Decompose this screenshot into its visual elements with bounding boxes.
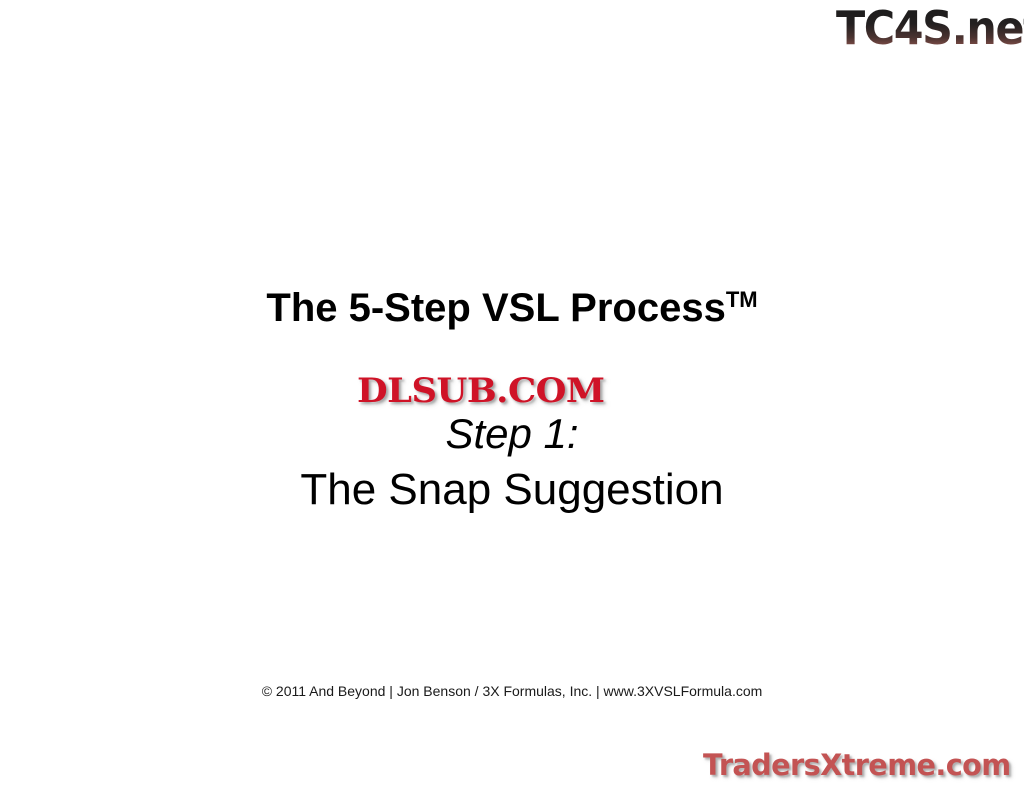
slide-title: The 5-Step VSL ProcessTM [0,277,1024,331]
slide-title-text: The 5-Step VSL Process [266,286,725,330]
tc4s-logo: TC4S.net [836,2,1024,54]
tradersxtreme-watermark: TradersXtreme.com [703,747,1011,783]
trademark-symbol: TM [726,287,758,312]
footer-copyright: © 2011 And Beyond | Jon Benson / 3X Form… [0,682,1024,700]
slide-subtitle-main: The Snap Suggestion [0,464,1024,516]
dlsub-watermark: DLSUB.COM [357,371,605,411]
slide-subtitle-step: Step 1: [0,409,1024,459]
presentation-slide: TC4S.net The 5-Step VSL ProcessTM DLSUB.… [0,0,1024,791]
